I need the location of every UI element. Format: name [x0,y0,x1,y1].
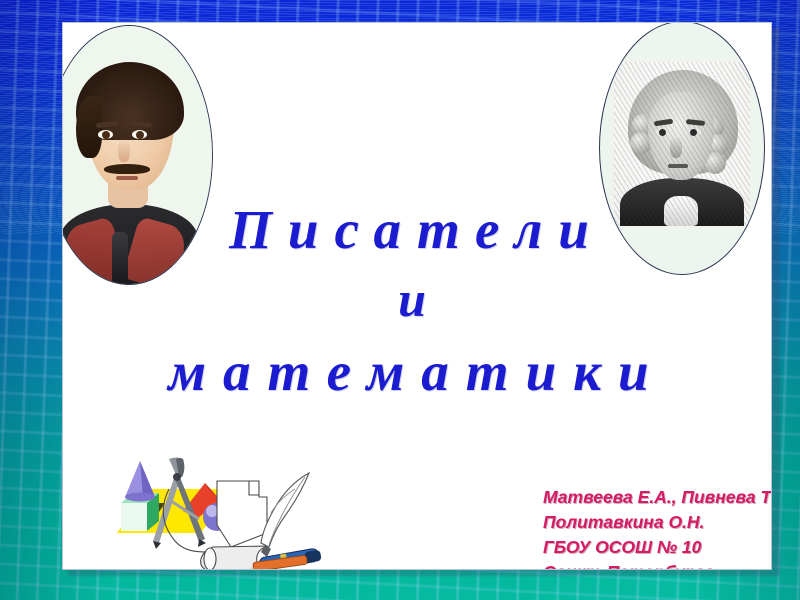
geometry-and-writing-clipart [109,455,339,570]
presentation-slide: Писатели и математики Матвеева Е.А., Пив… [0,0,800,600]
author-line-2: Политавкина О.Н. [543,510,772,535]
lomonosov-portrait [599,22,765,275]
title-line-3: математики [63,337,771,407]
quill-pen-icon [261,473,309,557]
school-line: ГБОУ ОСОШ № 10 [543,535,772,560]
city-line: Санкт-Петербурга [543,560,772,570]
green-cube-icon [121,503,147,531]
lermontov-portrait [62,25,213,285]
authors-block: Матвеева Е.А., Пивнева Т.Г., Политавкина… [543,485,772,570]
author-line-1: Матвеева Е.А., Пивнева Т.Г., [543,485,772,510]
content-card: Писатели и математики Матвеева Е.А., Пив… [62,22,772,570]
